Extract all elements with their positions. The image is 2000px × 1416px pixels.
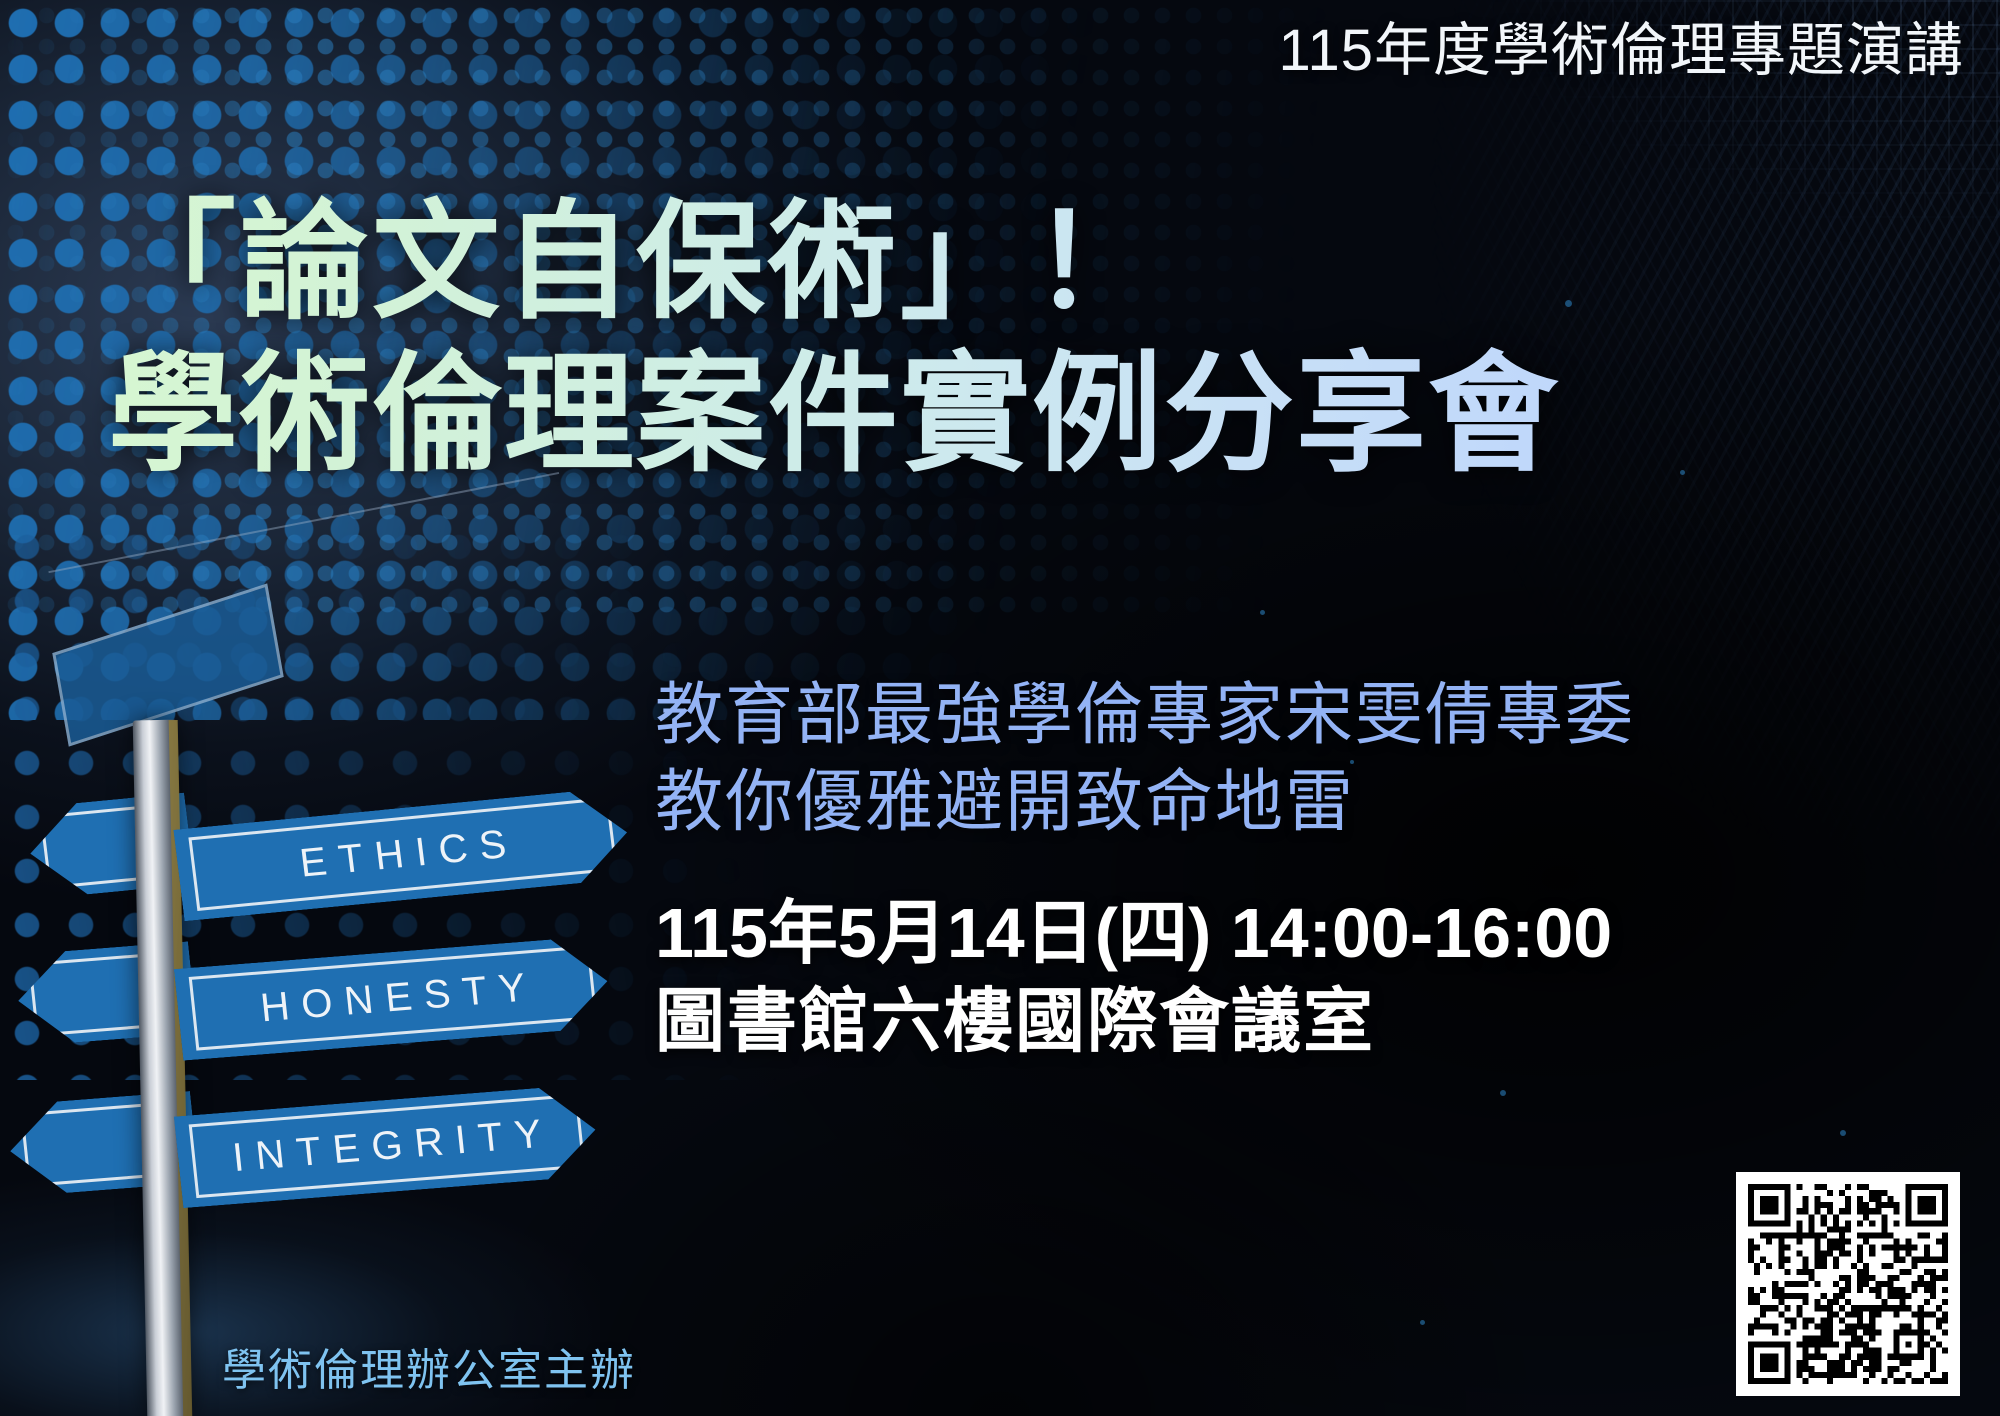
title-line-2: 學術倫理案件實例分享會 — [108, 338, 1560, 490]
qr-code[interactable] — [1736, 1172, 1960, 1396]
speaker-line-2: 教你優雅避開致命地雷 — [655, 759, 1635, 846]
poster-canvas: 115年度學術倫理專題演講 「論文自保術」！ 學術倫理案件實例分享會 教育部最強… — [0, 0, 2000, 1416]
event-info-block: 教育部最強學倫專家宋雯倩專委 教你優雅避開致命地雷 115年5月14日(四) 1… — [655, 672, 1635, 1065]
speck-dot — [1500, 1090, 1506, 1096]
speck-dot — [1260, 610, 1265, 615]
speck-dot — [1680, 470, 1685, 475]
sign-ethics-label: ETHICS — [173, 787, 632, 921]
sign-ethics: ETHICS — [173, 787, 632, 921]
sign-honesty: HONESTY — [174, 935, 612, 1060]
speck-dot — [1565, 300, 1572, 307]
title-line-1: 「論文自保術」！ — [108, 188, 1560, 338]
speck-dot — [1840, 1130, 1846, 1136]
sign-honesty-label: HONESTY — [174, 935, 612, 1060]
speaker-line-1: 教育部最強學倫專家宋雯倩專委 — [655, 672, 1635, 759]
speck-dot — [1420, 1320, 1425, 1325]
page-header-title: 115年度學術倫理專題演講 — [1279, 22, 1964, 80]
signpost-illustration: ETHICS HONESTY INTEGRITY — [0, 680, 700, 1416]
page-title: 「論文自保術」！ 學術倫理案件實例分享會 — [108, 188, 1560, 490]
organizer-credit: 學術倫理辦公室主辦 — [222, 1334, 636, 1398]
event-datetime: 115年5月14日(四) 14:00-16:00 — [655, 890, 1635, 978]
qr-code-image — [1748, 1184, 1948, 1384]
event-venue: 圖書館六樓國際會議室 — [655, 978, 1635, 1066]
